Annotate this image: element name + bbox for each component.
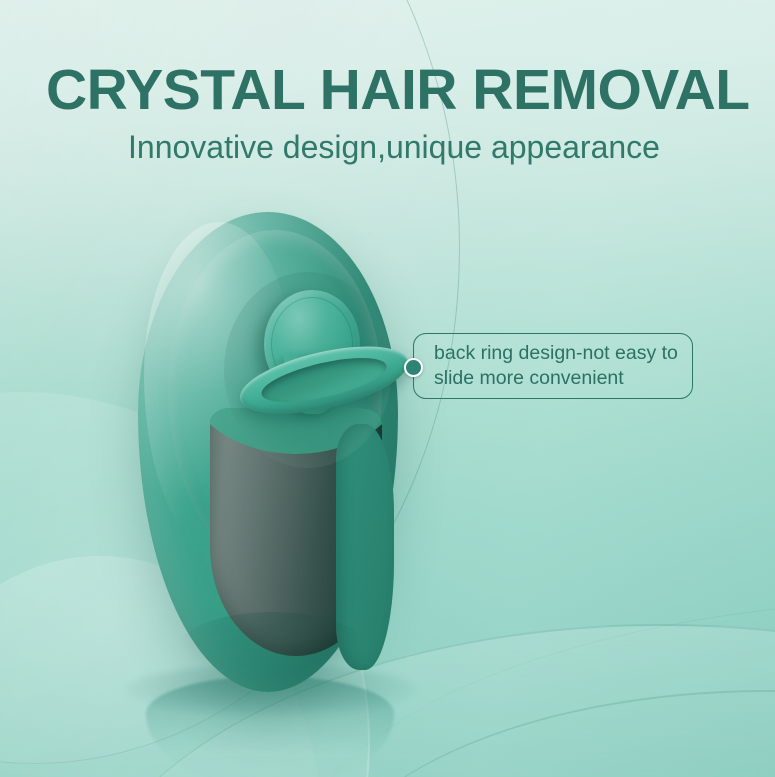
- feature-callout-text: back ring design-not easy to slide more …: [414, 341, 692, 391]
- product-image: [138, 212, 398, 692]
- device-side-lip: [336, 424, 394, 670]
- feature-callout: back ring design-not easy to slide more …: [413, 333, 693, 399]
- callout-marker-dot: [404, 358, 423, 377]
- page-title: CRYSTAL HAIR REMOVAL: [46, 62, 736, 119]
- product-banner: CRYSTAL HAIR REMOVAL Innovative design,u…: [0, 0, 775, 777]
- page-subtitle: Innovative design,unique appearance: [128, 131, 660, 163]
